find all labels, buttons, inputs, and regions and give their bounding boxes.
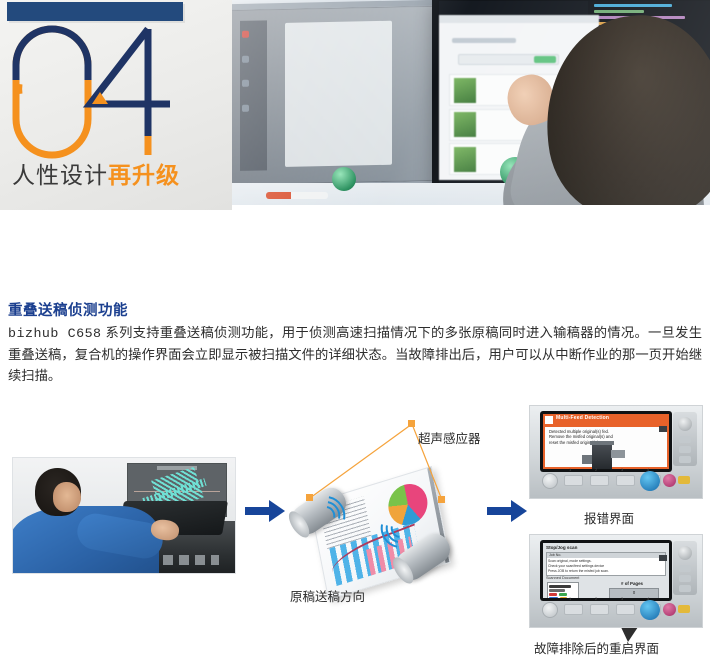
photo-person [472, 0, 710, 205]
technician-photo [12, 457, 236, 574]
warning-icon [545, 416, 553, 424]
panel-restart-help-button[interactable] [659, 555, 667, 561]
job-list-col-1: Job No. [549, 553, 561, 557]
flow-arrow-1 [245, 500, 287, 522]
key-label-1: 1 [569, 467, 571, 472]
hero-tagline-plain: 人性设计 [12, 162, 108, 188]
power-key[interactable] [542, 473, 558, 489]
panel-error-titlebar: Multi-Feed Detection [543, 414, 669, 425]
stop-key[interactable] [663, 474, 676, 487]
hero-tagline-accent: 再升级 [108, 162, 180, 188]
stop-key-2[interactable] [663, 603, 676, 616]
access-key[interactable] [678, 476, 690, 484]
pages-count-value: 0 [610, 590, 658, 595]
section-title: 重叠送稿侦测功能 [8, 299, 128, 320]
key-label-2: 2 [595, 467, 597, 472]
section-paragraph-text: 系列支持重叠送稿侦测功能，用于侦测高速扫描情况下的多张原稿同时进入输稿器的情况。… [8, 325, 702, 383]
caption-restart-panel: 故障排除后的重启界面 [534, 638, 659, 657]
job-list-row-1: Scan original, mode settings. [548, 559, 592, 563]
power-key-2[interactable] [542, 602, 558, 618]
caption-error-panel: 报错界面 [584, 508, 634, 527]
operation-panel-error[interactable]: Multi-Feed Detection Detected multiple o… [529, 405, 703, 499]
key-label-r3: 3 [621, 596, 623, 601]
printer-illustration [582, 441, 626, 469]
panel-restart-screen[interactable]: Stop/Jog scan Job No. Scan original, mod… [540, 540, 672, 601]
start-key[interactable] [640, 471, 660, 491]
panel-error-keys[interactable]: 1 2 3 4 [540, 471, 690, 491]
register-key-r2[interactable] [590, 604, 609, 615]
register-key-r3[interactable] [616, 604, 635, 615]
photo-monitor-left [232, 0, 439, 191]
ultrasonic-sensor-illustration [290, 450, 480, 600]
hero-left-panel: 人性设计再升级 [0, 0, 232, 210]
panel-restart-title: Stop/Jog scan [546, 545, 577, 550]
key-label-r2: 2 [595, 596, 597, 601]
panel-restart-job-list[interactable]: Job No. Scan original, mode settings. Ch… [546, 552, 666, 576]
section-number-04 [10, 24, 195, 159]
register-key-2[interactable] [590, 475, 609, 486]
key-label-3: 3 [621, 467, 623, 472]
hero-tagline: 人性设计再升级 [12, 164, 180, 187]
pages-count-label: # of Pages [621, 581, 643, 586]
key-label-r1: 1 [569, 596, 571, 601]
start-key-2[interactable] [640, 600, 660, 620]
panel-restart-keys[interactable]: 1 2 3 4 [540, 600, 690, 620]
product-model-name: bizhub C658 [8, 326, 102, 341]
hero-photo-office [232, 0, 710, 205]
job-list-row-2: Check your scan/feed settings device [548, 564, 604, 568]
flow-arrow-2 [487, 500, 529, 522]
hero-band: 人性设计再升级 [0, 0, 710, 210]
register-key-r1[interactable] [564, 604, 583, 615]
panel-error-title: Multi-Feed Detection [556, 415, 609, 421]
operation-panel-restart[interactable]: Stop/Jog scan Job No. Scan original, mod… [529, 534, 703, 628]
label-feed-direction: 原稿送稿方向 [290, 586, 365, 605]
section-paragraph: bizhub C658 系列支持重叠送稿侦测功能，用于侦测高速扫描情况下的多张原… [8, 322, 702, 386]
register-key-3[interactable] [616, 475, 635, 486]
panel-error-screen[interactable]: Multi-Feed Detection Detected multiple o… [540, 411, 672, 472]
access-key-2[interactable] [678, 605, 690, 613]
panel-restart-sub-label: Scanned Document [546, 576, 579, 580]
job-list-row-3: Press JOB to return the misfed job scan. [548, 569, 609, 573]
pages-count-field[interactable]: 0 [609, 588, 659, 598]
hero-top-bar [7, 2, 183, 21]
label-ultrasonic-sensor: 超声感应器 [418, 428, 481, 447]
register-key-1[interactable] [564, 475, 583, 486]
panel-error-help-button[interactable] [659, 426, 667, 432]
scanned-document-thumbnail[interactable] [547, 582, 579, 598]
diagram-area: 超声感应器 原稿送稿方向 Multi-Feed Detection Detect… [0, 400, 710, 672]
